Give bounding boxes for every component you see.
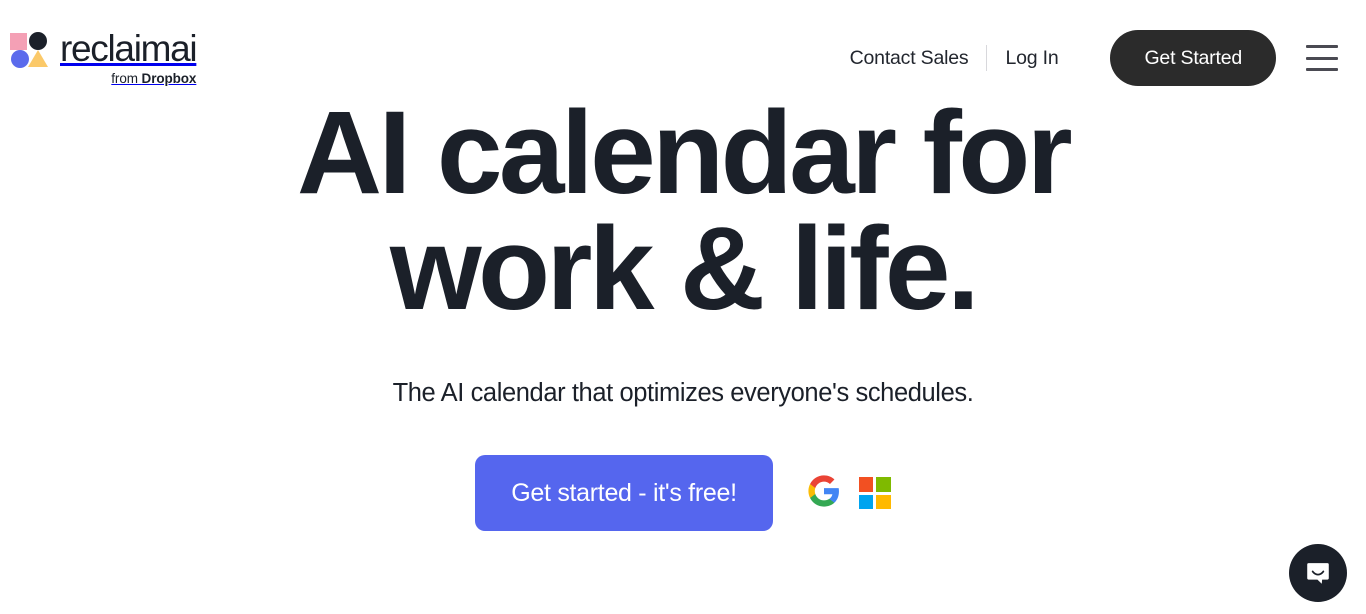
logo-blue-circle-icon [11, 50, 29, 68]
microsoft-square-green [876, 477, 891, 492]
brand-tagline: from Dropbox [111, 72, 196, 86]
chat-launcher-button[interactable] [1289, 544, 1347, 602]
microsoft-square-blue [859, 495, 874, 510]
logo-yellow-triangle-icon [28, 50, 48, 67]
hero-section: AI calendar for work & life. The AI cale… [0, 96, 1366, 531]
brand-text: reclaimai from Dropbox [60, 31, 196, 86]
nav-divider [986, 45, 987, 71]
get-started-free-button[interactable]: Get started - it's free! [475, 455, 772, 531]
tagline-dropbox: Dropbox [142, 71, 197, 86]
chat-launcher-icon [1303, 558, 1333, 588]
hamburger-bar-3 [1306, 68, 1338, 71]
hamburger-bar-1 [1306, 45, 1338, 48]
hamburger-bar-2 [1306, 57, 1338, 60]
sso-icon-group [807, 474, 891, 513]
nav-log-in[interactable]: Log In [1005, 47, 1058, 70]
nav-contact-sales[interactable]: Contact Sales [850, 47, 969, 70]
reclaim-logo-mark [10, 31, 50, 71]
tagline-prefix: from [111, 71, 141, 86]
hero-cta-row: Get started - it's free! [0, 455, 1366, 531]
google-signin-icon[interactable] [807, 474, 841, 513]
hero-headline: AI calendar for work & life. [0, 96, 1366, 327]
hero-subheadline: The AI calendar that optimizes everyone'… [0, 379, 1366, 408]
primary-navigation: Contact Sales Log In Get Started [850, 18, 1338, 86]
microsoft-signin-icon[interactable] [859, 477, 891, 509]
brand-wordmark: reclaimai [60, 31, 196, 67]
hamburger-menu-icon[interactable] [1306, 45, 1338, 71]
brand-logo-link[interactable]: reclaimai from Dropbox [10, 18, 196, 86]
hero-headline-line-1: AI calendar for [0, 96, 1366, 212]
microsoft-square-orange [859, 477, 874, 492]
hero-headline-line-2: work & life. [0, 212, 1366, 328]
logo-dark-circle-icon [29, 32, 47, 50]
get-started-button[interactable]: Get Started [1110, 30, 1276, 86]
microsoft-square-yellow [876, 495, 891, 510]
logo-pink-square-icon [10, 33, 27, 50]
